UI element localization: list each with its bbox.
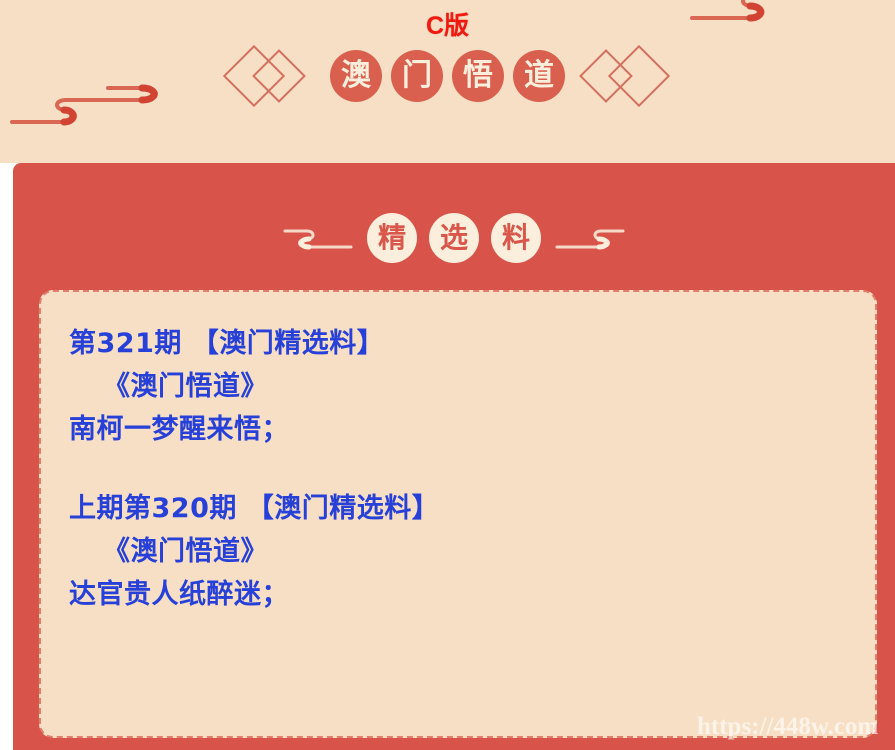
header-band: C版 澳 门 悟 道	[0, 0, 895, 163]
title-glyph-group: 澳 门 悟 道	[330, 50, 565, 102]
diamond-ornament-left	[226, 45, 330, 107]
title-glyph-1: 澳	[330, 50, 382, 102]
verse-title: 第321期 【澳门精选料】	[69, 322, 875, 365]
title-glyph-3: 悟	[452, 50, 504, 102]
title-glyph-4: 道	[513, 50, 565, 102]
section-glyph-1: 精	[367, 213, 417, 263]
page-root: C版 澳 门 悟 道	[0, 0, 895, 750]
section-glyph-3: 料	[491, 213, 541, 263]
diamond-ornament-right	[565, 45, 669, 107]
version-label: C版	[0, 14, 895, 39]
section-banner: 精 选 料	[13, 208, 895, 268]
verse-text: 达官贵人纸醉迷；	[69, 573, 875, 616]
cloud-swirl-icon	[553, 221, 627, 255]
red-panel: 精 选 料 第321期 【澳门精选料】 《澳门悟道》 南柯一梦醒来悟； 上期第3…	[13, 163, 895, 750]
section-glyph-group: 精 选 料	[367, 213, 541, 263]
diamond-shape	[608, 45, 670, 107]
title-glyph-2: 门	[391, 50, 443, 102]
verse-subtitle: 《澳门悟道》	[69, 530, 875, 573]
verse-subtitle: 《澳门悟道》	[69, 365, 875, 408]
section-glyph-2: 选	[429, 213, 479, 263]
site-title: 澳 门 悟 道	[0, 44, 895, 108]
content-inner: 第321期 【澳门精选料】 《澳门悟道》 南柯一梦醒来悟； 上期第320期 【澳…	[41, 292, 875, 616]
verse-text: 南柯一梦醒来悟；	[69, 408, 875, 451]
verse-block: 第321期 【澳门精选料】 《澳门悟道》 南柯一梦醒来悟；	[69, 322, 875, 451]
cloud-swirl-icon	[281, 221, 355, 255]
verse-block: 上期第320期 【澳门精选料】 《澳门悟道》 达官贵人纸醉迷；	[69, 487, 875, 616]
verse-title: 上期第320期 【澳门精选料】	[69, 487, 875, 530]
content-box: 第321期 【澳门精选料】 《澳门悟道》 南柯一梦醒来悟； 上期第320期 【澳…	[39, 290, 877, 738]
